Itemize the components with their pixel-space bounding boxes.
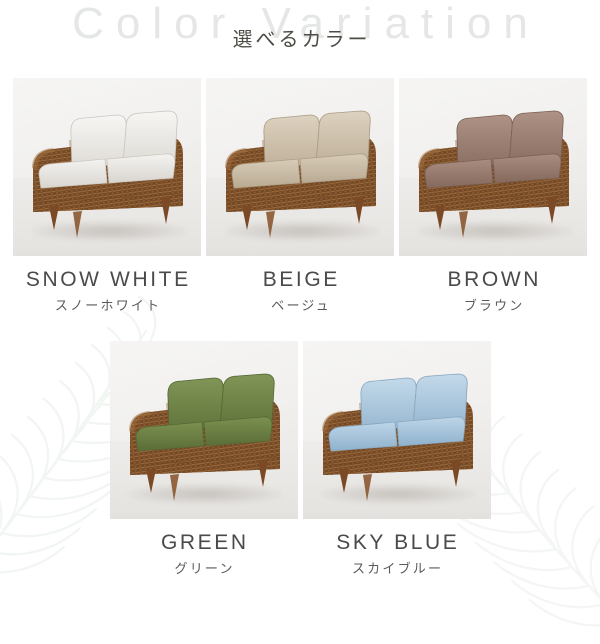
color-name-jp: ベージュ	[206, 297, 394, 315]
caption-green: GREEN グリーン	[110, 519, 298, 578]
color-name-jp: スノーホワイト	[13, 297, 201, 315]
page-header: Color Variation 選べるカラー	[0, 0, 600, 78]
color-name-jp: スカイブルー	[303, 560, 491, 578]
color-name-jp: ブラウン	[399, 297, 587, 315]
caption-snow-white: SNOW WHITE スノーホワイト	[13, 256, 201, 315]
product-photo-brown[interactable]	[399, 78, 587, 256]
rattan-sofa-illustration	[206, 78, 394, 256]
variation-card-sky-blue[interactable]: SKY BLUE スカイブルー	[303, 341, 491, 578]
variation-row-2: GREEN グリーン	[16, 341, 584, 578]
page-title-japanese: 選べるカラー	[0, 26, 600, 54]
color-name-en: SKY BLUE	[303, 530, 491, 555]
color-name-jp: グリーン	[110, 560, 298, 578]
variation-card-green[interactable]: GREEN グリーン	[110, 341, 298, 578]
product-photo-snow-white[interactable]	[13, 78, 201, 256]
color-variation-grid: SNOW WHITE スノーホワイト	[0, 78, 600, 578]
caption-brown: BROWN ブラウン	[399, 256, 587, 315]
color-name-en: BEIGE	[206, 267, 394, 292]
color-name-en: GREEN	[110, 530, 298, 555]
rattan-sofa-illustration	[399, 78, 587, 256]
color-name-en: BROWN	[399, 267, 587, 292]
variation-card-brown[interactable]: BROWN ブラウン	[399, 78, 587, 315]
rattan-sofa-illustration	[110, 341, 298, 519]
variation-card-snow-white[interactable]: SNOW WHITE スノーホワイト	[13, 78, 201, 315]
rattan-sofa-illustration	[13, 78, 201, 256]
color-name-en: SNOW WHITE	[13, 267, 201, 292]
variation-card-beige[interactable]: BEIGE ベージュ	[206, 78, 394, 315]
product-photo-sky-blue[interactable]	[303, 341, 491, 519]
rattan-sofa-illustration	[303, 341, 491, 519]
caption-beige: BEIGE ベージュ	[206, 256, 394, 315]
caption-sky-blue: SKY BLUE スカイブルー	[303, 519, 491, 578]
variation-row-1: SNOW WHITE スノーホワイト	[16, 78, 584, 315]
product-photo-green[interactable]	[110, 341, 298, 519]
product-photo-beige[interactable]	[206, 78, 394, 256]
